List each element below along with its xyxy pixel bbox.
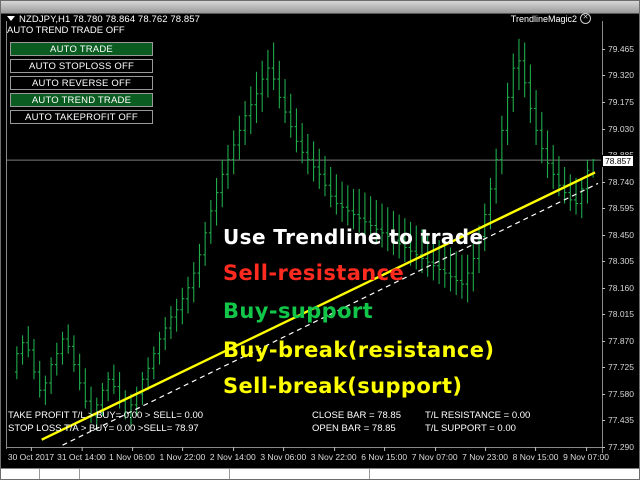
time-tick-label: 8 Nov 15:00 — [513, 452, 559, 462]
price-tick-label: 79.320 — [602, 71, 634, 80]
time-scale-line — [6, 447, 602, 448]
auto-takeprofit-button[interactable]: AUTO TAKEPROFIT OFF — [10, 110, 153, 124]
auto-trade-button[interactable]: AUTO TRADE — [10, 42, 153, 56]
chart-left-axis-line — [6, 21, 7, 449]
close-bar-status: CLOSE BAR = 78.85 — [312, 409, 401, 422]
price-tick-label: 77.725 — [602, 363, 634, 372]
price-scale[interactable]: 79.46579.32079.17579.03078.88578.74078.5… — [602, 14, 640, 461]
window-titlebar — [1, 1, 640, 14]
chart-symbol-ohlc-text: NZDJPY,H1 78.780 78.864 78.762 78.857 — [19, 14, 200, 25]
support-trendline-dashed[interactable] — [63, 183, 599, 445]
price-tick-label: 78.595 — [602, 204, 634, 213]
price-tick-label: 77.435 — [602, 416, 634, 425]
price-tick-label: 78.305 — [602, 257, 634, 266]
support-trendline-solid[interactable] — [42, 172, 595, 439]
status-bar-divider — [79, 469, 80, 480]
status-block-levels: T/L RESISTANCE = 0.00 T/L SUPPORT = 0.00 — [425, 409, 530, 435]
indicator-label: TrendlineMagic2✕ — [511, 14, 591, 25]
take-profit-status: TAKE PROFIT T/L > BUY= 0.00 > SELL= 0.00 — [8, 409, 203, 422]
status-bar-divider — [39, 469, 40, 480]
price-tick-label: 78.740 — [602, 178, 634, 187]
time-tick-label: 3 Nov 06:00 — [260, 452, 306, 462]
time-scale[interactable]: 30 Oct 201731 Oct 14:001 Nov 06:001 Nov … — [1, 447, 602, 469]
open-bar-status: OPEN BAR = 78.85 — [312, 422, 401, 435]
status-bar-divider — [369, 469, 370, 480]
status-bar — [1, 468, 640, 479]
price-tick-label: 79.175 — [602, 98, 634, 107]
time-tick-label: 3 Nov 22:00 — [311, 452, 357, 462]
price-tick-label: 77.290 — [602, 443, 634, 452]
chart-status-subheader: AUTO TREND TRADE OFF — [7, 25, 125, 36]
ea-button-panel[interactable]: AUTO TRADE AUTO STOPLOSS OFF AUTO REVERS… — [10, 42, 153, 127]
mt4-chart-window: NZDJPY,H1 78.780 78.864 78.762 78.857 AU… — [0, 0, 640, 480]
stop-loss-status: STOP LOSS T/A > BUY= 0.00 >SELL= 78.97 — [8, 422, 203, 435]
price-tick-label: 77.870 — [602, 337, 634, 346]
chart-symbol-header: NZDJPY,H1 78.780 78.864 78.762 78.857 — [7, 14, 200, 25]
time-tick-label: 6 Nov 15:00 — [361, 452, 407, 462]
price-tick-label: 78.160 — [602, 284, 634, 293]
time-tick-label: 7 Nov 07:00 — [412, 452, 458, 462]
time-tick-label: 1 Nov 22:00 — [159, 452, 205, 462]
indicator-name-text: TrendlineMagic2 — [511, 14, 577, 24]
price-tick-label: 78.015 — [602, 310, 634, 319]
status-bar-divider — [229, 469, 230, 480]
time-tick-label: 30 Oct 2017 — [8, 452, 54, 462]
close-icon[interactable]: ✕ — [580, 13, 591, 24]
current-price-label: 78.857 — [602, 155, 634, 167]
time-tick-label: 1 Nov 06:00 — [109, 452, 155, 462]
time-tick-label: 31 Oct 14:00 — [57, 452, 106, 462]
status-block-left: TAKE PROFIT T/L > BUY= 0.00 > SELL= 0.00… — [8, 409, 203, 435]
price-tick-label: 79.465 — [602, 45, 634, 54]
status-block-bars: CLOSE BAR = 78.85 OPEN BAR = 78.85 — [312, 409, 401, 435]
auto-reverse-button[interactable]: AUTO REVERSE OFF — [10, 76, 153, 90]
time-tick-label: 9 Nov 07:00 — [563, 452, 609, 462]
tl-resistance-status: T/L RESISTANCE = 0.00 — [425, 409, 530, 422]
time-tick-label: 2 Nov 14:00 — [210, 452, 256, 462]
tl-support-status: T/L SUPPORT = 0.00 — [425, 422, 530, 435]
chart-dropdown-caret-icon[interactable] — [7, 16, 15, 21]
auto-trend-trade-button[interactable]: AUTO TREND TRADE — [10, 93, 153, 107]
time-tick-label: 7 Nov 23:00 — [462, 452, 508, 462]
auto-stoploss-button[interactable]: AUTO STOPLOSS OFF — [10, 59, 153, 73]
price-tick-label: 78.450 — [602, 231, 634, 240]
price-tick-label: 79.030 — [602, 125, 634, 134]
price-tick-label: 77.580 — [602, 390, 634, 399]
